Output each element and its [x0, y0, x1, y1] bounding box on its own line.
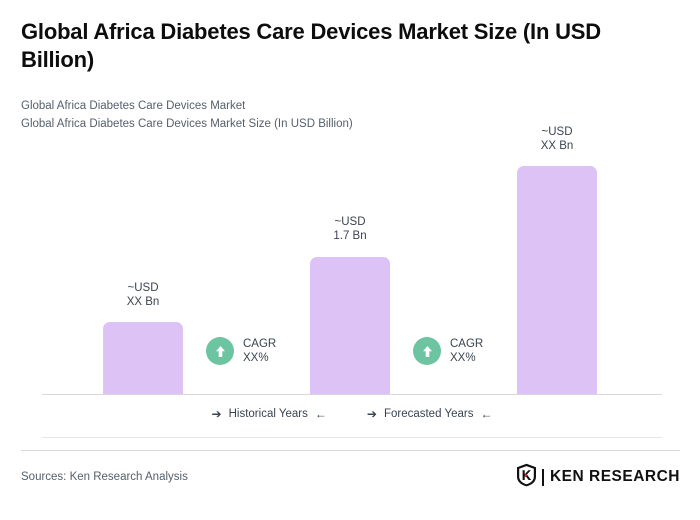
footer-divider	[21, 450, 680, 451]
chart-baseline	[42, 394, 662, 395]
arrow-left-icon: ←	[315, 408, 327, 420]
bar-value-label-2-line2: 1.7 Bn	[310, 229, 390, 243]
bar-value-label-1: ~USD XX Bn	[103, 281, 183, 310]
bar-2[interactable]	[310, 257, 390, 394]
arrow-right-icon: ➔	[212, 408, 222, 420]
bar-value-label-1-line2: XX Bn	[103, 295, 183, 309]
bar-value-label-1-line1: ~USD	[103, 281, 183, 295]
logo-wordmark: KEN RESEARCH	[550, 469, 680, 485]
bar-value-label-3-line1: ~USD	[517, 125, 597, 139]
period-legend: ➔ Historical Years ← ➔ Forecasted Years …	[42, 408, 662, 420]
bar-3[interactable]	[517, 166, 597, 394]
sources-text: Sources: Ken Research Analysis	[21, 471, 188, 483]
cagr-badge-1[interactable]: CAGR XX%	[206, 337, 276, 366]
arrow-up-icon	[206, 337, 234, 365]
bar-value-label-3-line2: XX Bn	[517, 139, 597, 153]
cagr-badge-2-label: CAGR	[450, 337, 483, 351]
ken-research-logo[interactable]: KEN RESEARCH	[516, 463, 680, 492]
arrow-left-icon: ←	[480, 408, 492, 420]
period-forecasted-years: ➔ Forecasted Years ←	[367, 408, 493, 420]
cagr-badge-2-value: XX%	[450, 351, 483, 365]
cagr-badge-1-value: XX%	[243, 351, 276, 365]
bar-value-label-3: ~USD XX Bn	[517, 125, 597, 154]
period-forecasted-years-label: Forecasted Years	[384, 408, 474, 420]
cagr-badge-1-text: CAGR XX%	[243, 337, 276, 366]
cagr-badge-2[interactable]: CAGR XX%	[413, 337, 483, 366]
logo-separator	[542, 469, 544, 486]
bar-1[interactable]	[103, 322, 183, 394]
cagr-badge-1-label: CAGR	[243, 337, 276, 351]
period-historical-years: ➔ Historical Years ←	[212, 408, 327, 420]
arrow-right-icon: ➔	[367, 408, 377, 420]
page-footer: Sources: Ken Research Analysis KEN RESEA…	[21, 463, 680, 491]
ken-research-shield-icon	[516, 463, 537, 492]
logo-wordmark-text: KEN RESEARCH	[550, 469, 680, 485]
plot-bottom-divider	[42, 437, 662, 438]
period-historical-years-label: Historical Years	[229, 408, 308, 420]
bar-chart: ~USD XX Bn CAGR XX% ~USD 1.7 Bn CAGR XX%	[0, 0, 700, 440]
cagr-badge-2-text: CAGR XX%	[450, 337, 483, 366]
bar-value-label-2-line1: ~USD	[310, 215, 390, 229]
bar-value-label-2: ~USD 1.7 Bn	[310, 215, 390, 244]
arrow-up-icon	[413, 337, 441, 365]
